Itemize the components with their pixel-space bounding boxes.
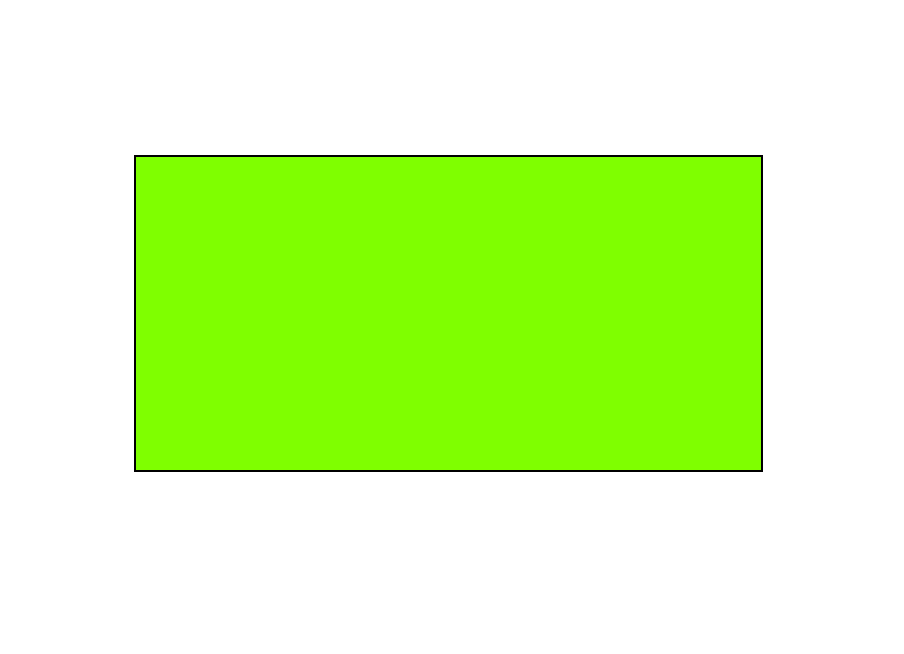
contour-plot-area — [134, 155, 763, 472]
contour-field-canvas — [136, 157, 761, 470]
colorbar — [778, 218, 806, 518]
